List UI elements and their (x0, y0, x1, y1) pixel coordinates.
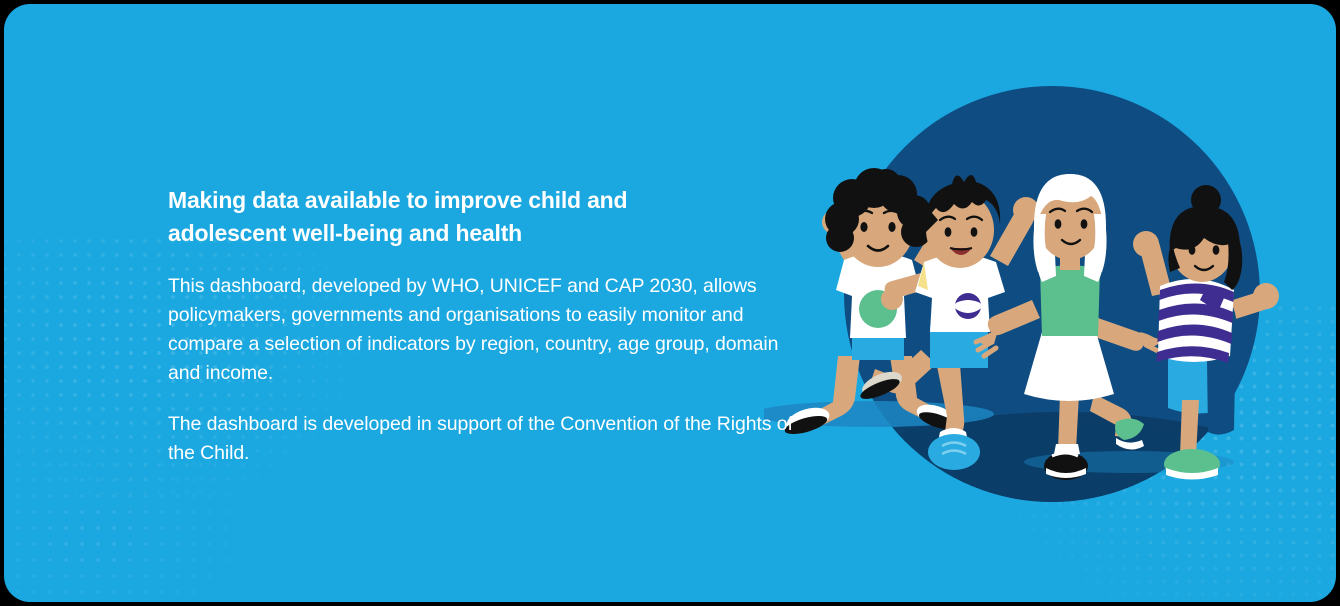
four-children-jumping-illustration (764, 64, 1324, 534)
intro-paragraph-2: The dashboard is developed in support of… (168, 410, 793, 468)
hero-banner: Making data available to improve child a… (4, 4, 1336, 602)
blue-sneaker (928, 434, 980, 470)
hero-text-block: Making data available to improve child a… (168, 184, 808, 468)
purple-globe-badge (955, 293, 981, 319)
page-title: Making data available to improve child a… (168, 184, 728, 250)
hair-bun (1191, 185, 1221, 215)
intro-paragraph-1: This dashboard, developed by WHO, UNICEF… (168, 272, 793, 388)
